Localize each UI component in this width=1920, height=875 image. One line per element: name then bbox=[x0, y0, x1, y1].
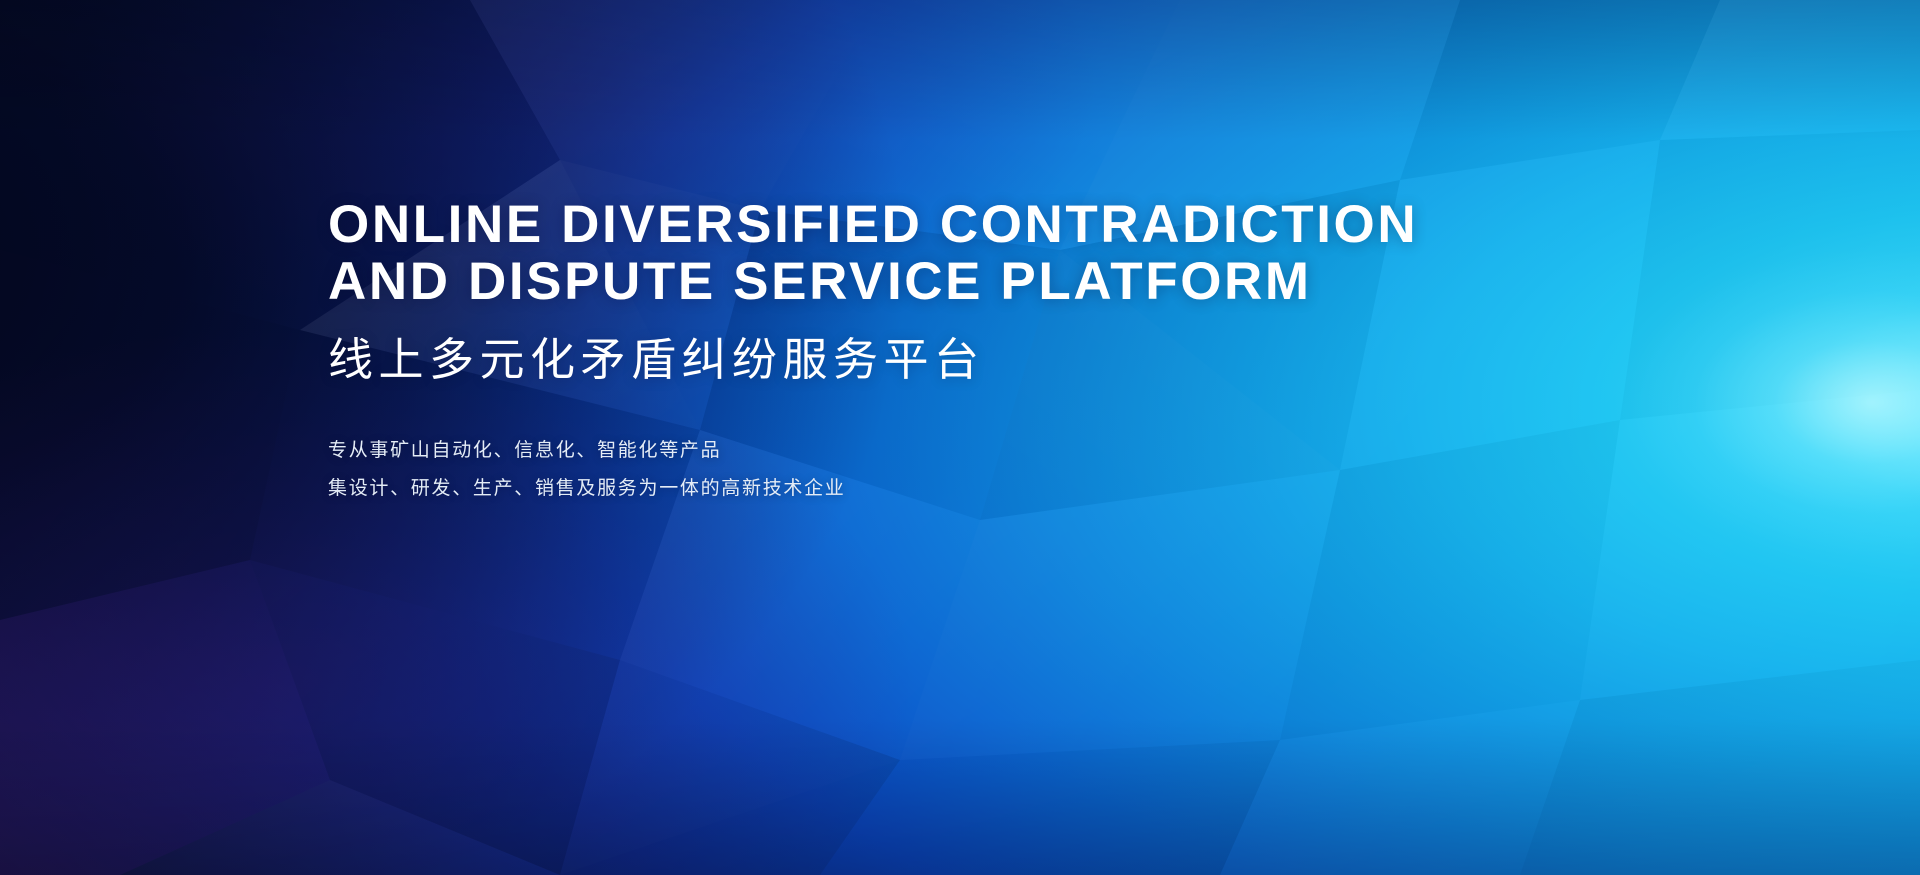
page-title: ONLINE DIVERSIFIED CONTRADICTION AND DIS… bbox=[328, 196, 1628, 310]
hero-banner: ONLINE DIVERSIFIED CONTRADICTION AND DIS… bbox=[0, 0, 1920, 875]
hero-content: ONLINE DIVERSIFIED CONTRADICTION AND DIS… bbox=[328, 196, 1628, 508]
page-subtitle-chinese: 线上多元化矛盾纠纷服务平台 bbox=[328, 335, 1628, 385]
description-block: 专从事矿山自动化、信息化、智能化等产品 集设计、研发、生产、销售及服务为一体的高… bbox=[328, 432, 1628, 508]
description-line: 集设计、研发、生产、销售及服务为一体的高新技术企业 bbox=[328, 470, 1628, 508]
description-line: 专从事矿山自动化、信息化、智能化等产品 bbox=[328, 432, 1628, 470]
